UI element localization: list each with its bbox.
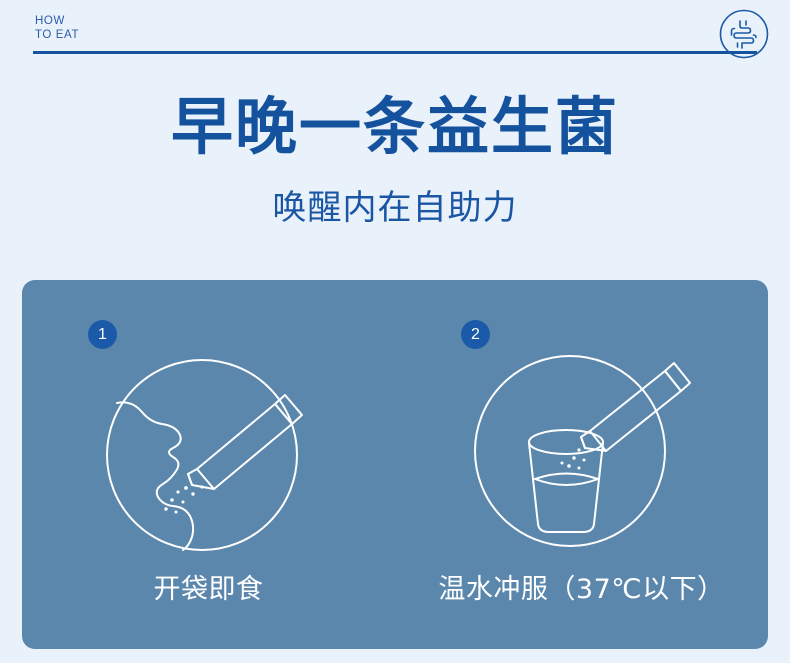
page-header: HOW TO EAT — [0, 0, 790, 68]
header-eyebrow-label: HOW TO EAT — [35, 14, 79, 42]
step-item: 2 — [395, 280, 768, 649]
step-caption: 开袋即食 — [22, 572, 395, 608]
page-title: 早晚一条益生菌 — [0, 92, 790, 162]
intestine-icon — [718, 8, 770, 60]
step-caption: 温水冲服（37℃以下） — [395, 572, 768, 608]
mouth-sachet-icon — [70, 338, 355, 568]
header-divider — [33, 51, 757, 54]
step-item: 1 — [22, 280, 395, 649]
page-subtitle: 唤醒内在自助力 — [0, 186, 790, 230]
steps-card: 1 — [22, 280, 768, 649]
glass-sachet-icon — [443, 338, 728, 568]
